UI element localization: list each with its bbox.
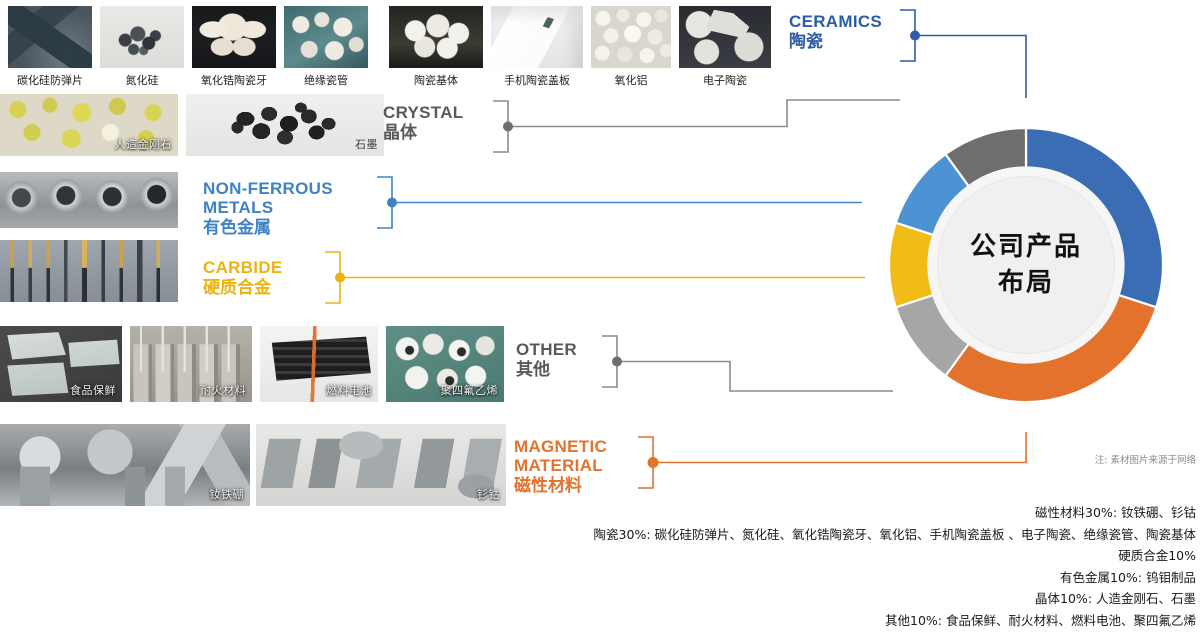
label-other-en: OTHER [516, 340, 577, 359]
photo-ptfe[interactable]: 聚四氟乙烯 [386, 326, 504, 402]
label-nonferrous-en-1: NON-FERROUS [203, 179, 333, 198]
photo-caption-overlay: 石墨 [355, 136, 378, 152]
label-ceramics[interactable]: CERAMICS 陶瓷 [789, 12, 882, 53]
center-title-line2: 布局 [998, 265, 1054, 301]
label-other[interactable]: OTHER 其他 [516, 340, 577, 381]
photo-caption: 电子陶瓷 [679, 72, 771, 88]
photo-detail [389, 6, 483, 68]
connector-nonferrous [377, 177, 862, 228]
photo-caption: 碳化硅防弹片 [8, 72, 92, 88]
legend-item-carbide: 硬质合金10% [496, 545, 1196, 567]
photo-detail [100, 6, 184, 68]
photo-caption-overlay: 钐钴 [477, 486, 500, 502]
connector-magnetic [638, 432, 1026, 488]
photo-alumina[interactable] [591, 6, 671, 68]
connector-other [602, 336, 893, 391]
label-other-cn: 其他 [516, 359, 577, 381]
label-nonferrous[interactable]: NON-FERROUS METALS 有色金属 [203, 179, 333, 239]
label-nonferrous-en-2: METALS [203, 198, 333, 217]
label-crystal[interactable]: CRYSTAL 晶体 [383, 103, 463, 144]
label-crystal-en: CRYSTAL [383, 103, 463, 122]
photo-caption-overlay: 人造金刚石 [115, 136, 173, 152]
connector-ceramics [900, 10, 1026, 98]
photo-caption-overlay: 食品保鲜 [70, 382, 116, 398]
photo-zirconia-dental[interactable] [192, 6, 276, 68]
photo-caption: 绝缘瓷管 [284, 72, 368, 88]
photo-caption-overlay: 聚四氟乙烯 [441, 382, 499, 398]
connector-crystal [493, 100, 900, 152]
photo-detail-2 [256, 424, 506, 506]
photo-phone-ceramic-cover[interactable] [491, 6, 583, 68]
donut-center-label: 公司产品 布局 [928, 167, 1124, 363]
connector-carbide [325, 252, 865, 303]
source-note: 注: 素材图片来源于网络 [1095, 452, 1196, 466]
label-magnetic-en-1: MAGNETIC [514, 437, 607, 456]
photo-detail [192, 6, 276, 68]
legend-item-nonferrous: 有色金属10%: 钨钼制品 [496, 567, 1196, 589]
legend-item-crystal: 晶体10%: 人造金刚石、石墨 [496, 588, 1196, 610]
photo-ceramic-substrate[interactable] [389, 6, 483, 68]
label-magnetic[interactable]: MAGNETIC MATERIAL 磁性材料 [514, 437, 607, 497]
legend-item-magnetic: 磁性材料30%: 钕铁硼、钐钴 [496, 502, 1196, 524]
photo-samarium-cobalt[interactable]: 钐钴 [256, 424, 506, 506]
photo-fuel-cell[interactable]: 燃料电池 [260, 326, 378, 402]
photo-silicon-nitride[interactable] [100, 6, 184, 68]
photo-caption-overlay: 燃料电池 [326, 382, 372, 398]
center-title-line1: 公司产品 [970, 229, 1082, 265]
label-nonferrous-cn: 有色金属 [203, 217, 333, 239]
donut-inner-hub: 公司产品 布局 [862, 101, 1190, 429]
photo-detail [0, 172, 178, 228]
label-ceramics-en: CERAMICS [789, 12, 882, 31]
legend-item-other: 其他10%: 食品保鲜、耐火材料、燃料电池、聚四氟乙烯 [496, 610, 1196, 632]
label-carbide-en: CARBIDE [203, 258, 283, 277]
infographic-canvas: 公司产品 布局 碳化硅防弹片 氮化硅 氧化锆陶瓷牙 绝缘瓷管 陶瓷基体 手机陶瓷… [0, 0, 1204, 632]
photo-caption: 氮化硅 [100, 72, 184, 88]
photo-carbide-tools[interactable] [0, 240, 178, 302]
photo-caption-overlay: 钕铁硼 [210, 486, 245, 502]
photo-food-preservation[interactable]: 食品保鲜 [0, 326, 122, 402]
label-crystal-cn: 晶体 [383, 122, 463, 144]
photo-caption: 陶瓷基体 [389, 72, 483, 88]
label-carbide-cn: 硬质合金 [203, 277, 283, 299]
photo-detail [8, 6, 92, 68]
photo-detail [591, 6, 671, 68]
photo-insulating-tube[interactable] [284, 6, 368, 68]
label-magnetic-en-2: MATERIAL [514, 456, 607, 475]
photo-ndfeb[interactable]: 钕铁硼 [0, 424, 250, 506]
photo-detail [284, 6, 368, 68]
photo-caption: 手机陶瓷盖板 [491, 72, 583, 88]
photo-nonferrous-metals[interactable] [0, 172, 178, 228]
label-magnetic-cn: 磁性材料 [514, 475, 607, 497]
legend-item-ceramics: 陶瓷30%: 碳化硅防弹片、氮化硅、氧化锆陶瓷牙、氧化铝、手机陶瓷盖板 、电子陶… [496, 524, 1196, 546]
label-ceramics-cn: 陶瓷 [789, 31, 882, 53]
photo-refractory-material[interactable]: 耐火材料 [130, 326, 252, 402]
photo-caption-overlay: 耐火材料 [200, 382, 246, 398]
photo-caption: 氧化锆陶瓷牙 [192, 72, 276, 88]
photo-caption: 氧化铝 [591, 72, 671, 88]
photo-electronic-ceramics[interactable] [679, 6, 771, 68]
legend-list: 磁性材料30%: 钕铁硼、钐钴 陶瓷30%: 碳化硅防弹片、氮化硅、氧化锆陶瓷牙… [496, 502, 1196, 631]
photo-detail [491, 6, 583, 68]
photo-carbide-silicon-plate[interactable] [8, 6, 92, 68]
photo-graphite[interactable]: 石墨 [186, 94, 384, 156]
photo-synthetic-diamond[interactable]: 人造金刚石 [0, 94, 178, 156]
label-carbide[interactable]: CARBIDE 硬质合金 [203, 258, 283, 299]
